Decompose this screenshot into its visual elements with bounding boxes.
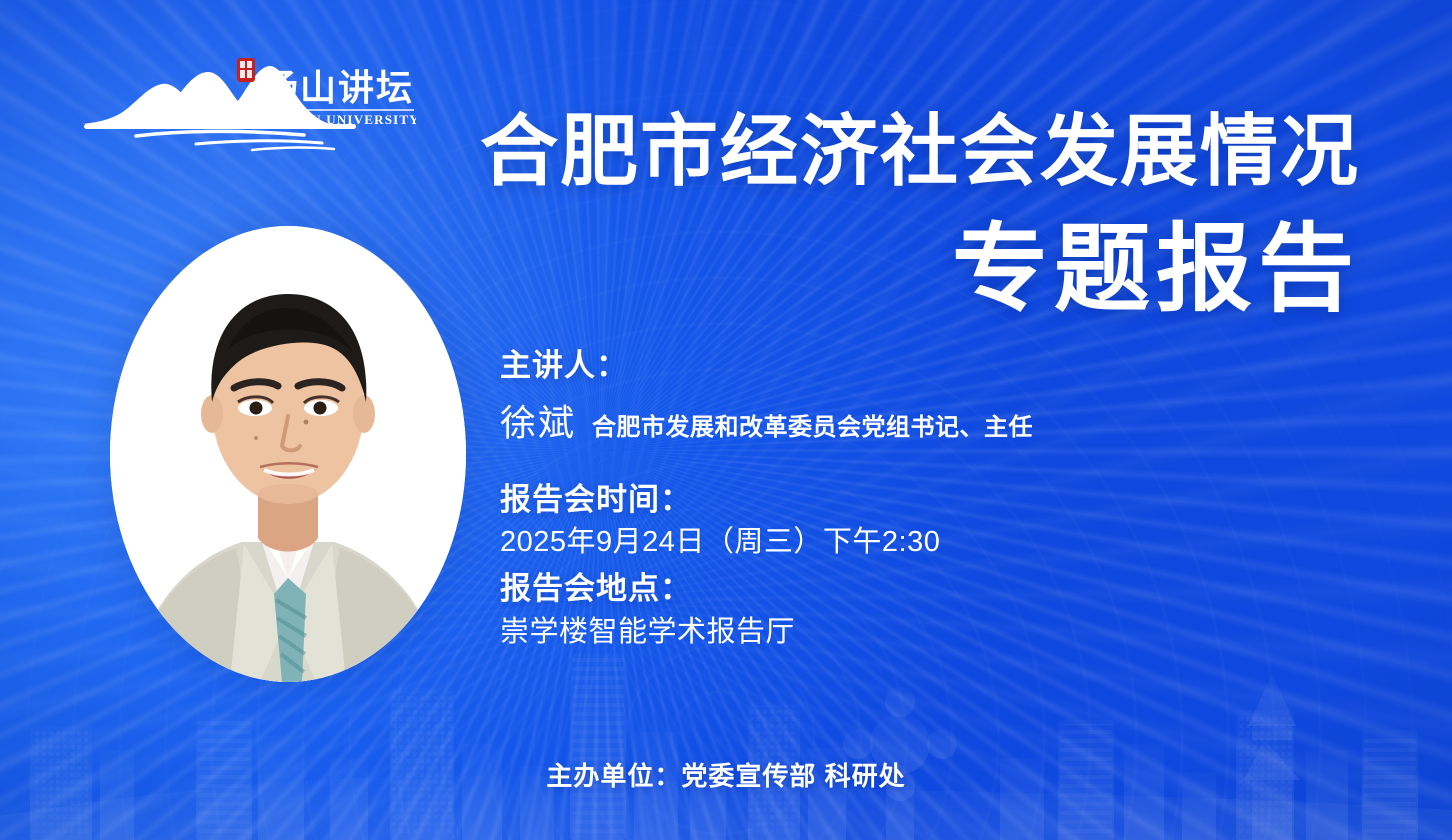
speaker-role: 合肥市发展和改革委员会党组书记、主任: [592, 407, 1033, 442]
speaker-row: 徐斌 合肥市发展和改革委员会党组书记、主任: [500, 394, 1360, 446]
event-details: 主讲人： 徐斌 合肥市发展和改革委员会党组书记、主任 报告会时间： 2025年9…: [500, 346, 1360, 654]
speaker-portrait: [110, 226, 466, 682]
place-label: 报告会地点：: [500, 569, 1360, 609]
organizers-text: 主办单位：党委宣传部 科研处: [546, 756, 905, 793]
place-block: 报告会地点： 崇学楼智能学术报告厅: [500, 569, 1360, 654]
svg-text:汤山讲坛: 汤山讲坛: [262, 68, 414, 109]
time-value: 2025年9月24日（周三）下午2:30: [500, 521, 1360, 565]
time-label: 报告会时间：: [500, 480, 1360, 520]
svg-text:CHAOHU UNIVERSITY: CHAOHU UNIVERSITY: [256, 112, 416, 127]
logo[interactable]: 汤山讲坛 CHAOHU UNIVERSITY: [76, 52, 416, 152]
speaker-name: 徐斌: [500, 394, 576, 446]
place-value: 崇学楼智能学术报告厅: [500, 611, 1360, 655]
time-block: 报告会时间： 2025年9月24日（周三）下午2:30: [500, 480, 1360, 565]
speaker-label: 主讲人：: [500, 346, 1360, 386]
footer: 主办单位：党委宣传部 科研处: [0, 756, 1452, 793]
red-seal-stamp-icon: [237, 58, 255, 82]
event-poster: 汤山讲坛 CHAOHU UNIVERSITY: [0, 0, 1452, 840]
